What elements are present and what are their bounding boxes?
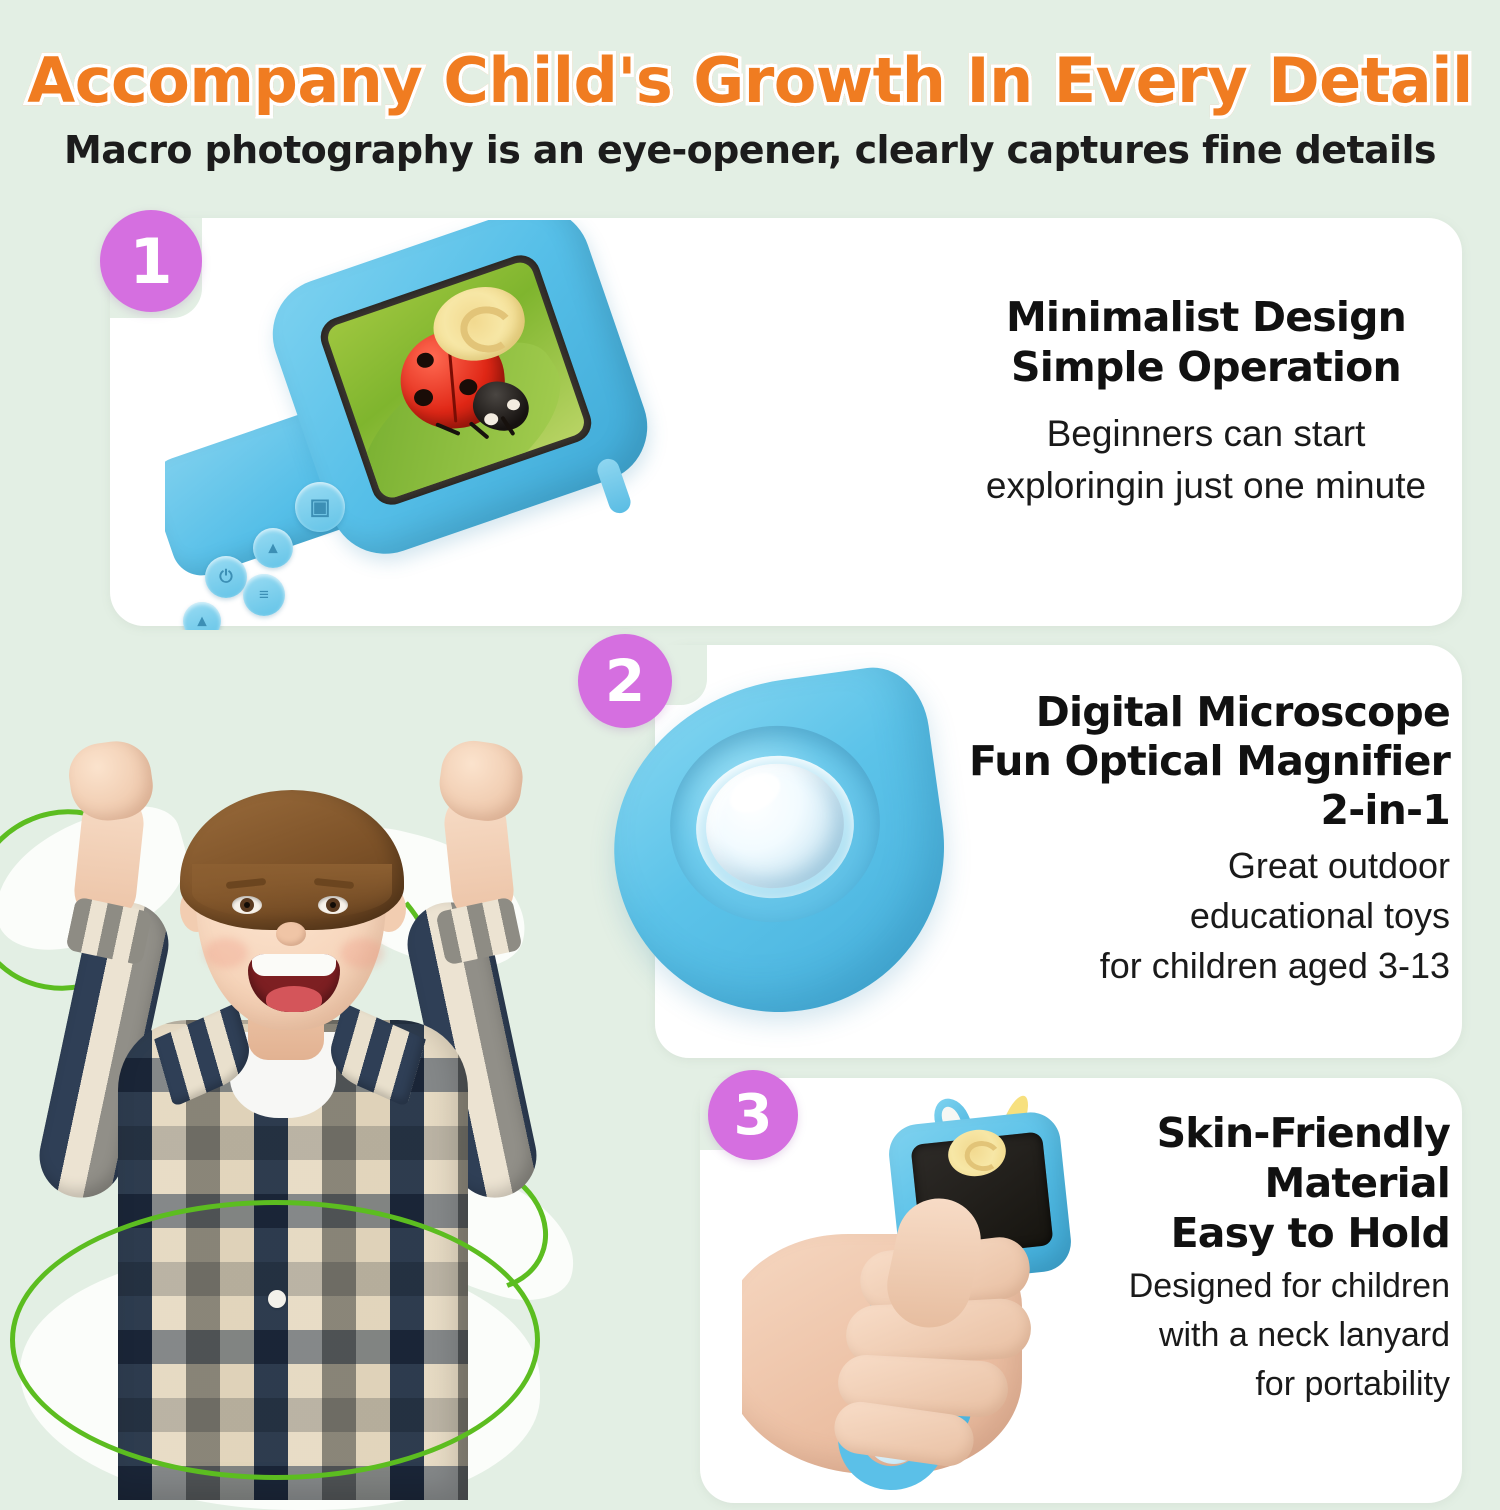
boy-eye-right <box>318 896 348 914</box>
heading-line: Simple Operation <box>962 342 1450 392</box>
boy-hair <box>180 790 404 930</box>
feature-text-1: Minimalist Design Simple Operation Begin… <box>962 292 1450 512</box>
feature-body-1: Beginners can start exploringin just one… <box>962 408 1450 512</box>
step-badge-3: 3 <box>708 1070 798 1160</box>
green-vine-swirl <box>10 1200 540 1480</box>
feature-text-3: Skin-Friendly Material Easy to Hold Desi… <box>1010 1108 1450 1409</box>
boy-teeth <box>252 954 336 976</box>
boy-tongue <box>266 986 322 1012</box>
up-arrow-button-icon: ▴ <box>253 528 293 568</box>
boy-cheek-right <box>340 938 384 968</box>
step-badge-1: 1 <box>100 210 202 312</box>
feature-text-2: Digital Microscope Fun Optical Magnifier… <box>930 688 1450 991</box>
heading-line: Skin-Friendly <box>1010 1108 1450 1158</box>
header-banner: Accompany Child's Growth In Every Detail… <box>0 0 1500 190</box>
boy-nose <box>276 922 306 946</box>
menu-button-icon: ≡ <box>243 574 285 616</box>
power-button-icon: ⏻ <box>205 556 247 598</box>
heading-line: 2-in-1 <box>930 786 1450 835</box>
body-line: Beginners can start <box>962 408 1450 460</box>
feature-body-3: Designed for children with a neck lanyar… <box>1010 1262 1450 1409</box>
boy-eye-left <box>232 896 262 914</box>
feature-heading-3: Skin-Friendly Material Easy to Hold <box>1010 1108 1450 1258</box>
shutter-button-icon: ▣ <box>295 482 345 532</box>
heading-line: Material <box>1010 1158 1450 1208</box>
feature-body-2: Great outdoor educational toys for child… <box>930 841 1450 991</box>
feature-heading-1: Minimalist Design Simple Operation <box>962 292 1450 392</box>
body-line: Great outdoor <box>930 841 1450 891</box>
heading-line: Easy to Hold <box>1010 1208 1450 1258</box>
feature-heading-2: Digital Microscope Fun Optical Magnifier… <box>930 688 1450 835</box>
body-line: exploringin just one minute <box>962 460 1450 512</box>
boy-cheek-left <box>204 938 248 968</box>
heading-line: Fun Optical Magnifier <box>930 737 1450 786</box>
body-line: Designed for children <box>1010 1262 1450 1311</box>
body-line: with a neck lanyard <box>1010 1311 1450 1360</box>
body-line: for children aged 3-13 <box>930 941 1450 991</box>
heading-line: Digital Microscope <box>930 688 1450 737</box>
body-line: for portability <box>1010 1360 1450 1409</box>
body-line: educational toys <box>930 891 1450 941</box>
page-subtitle: Macro photography is an eye-opener, clea… <box>0 128 1500 172</box>
up-arrow-button-icon: ▴ <box>183 602 221 630</box>
heading-line: Minimalist Design <box>962 292 1450 342</box>
step-badge-2: 2 <box>578 634 672 728</box>
page-title: Accompany Child's Growth In Every Detail <box>0 44 1500 117</box>
hero-photo-happy-boy <box>0 690 600 1500</box>
product-image-microscope-camera: ▣ ▴ ⏻ ≡ ▴ <box>165 220 785 630</box>
